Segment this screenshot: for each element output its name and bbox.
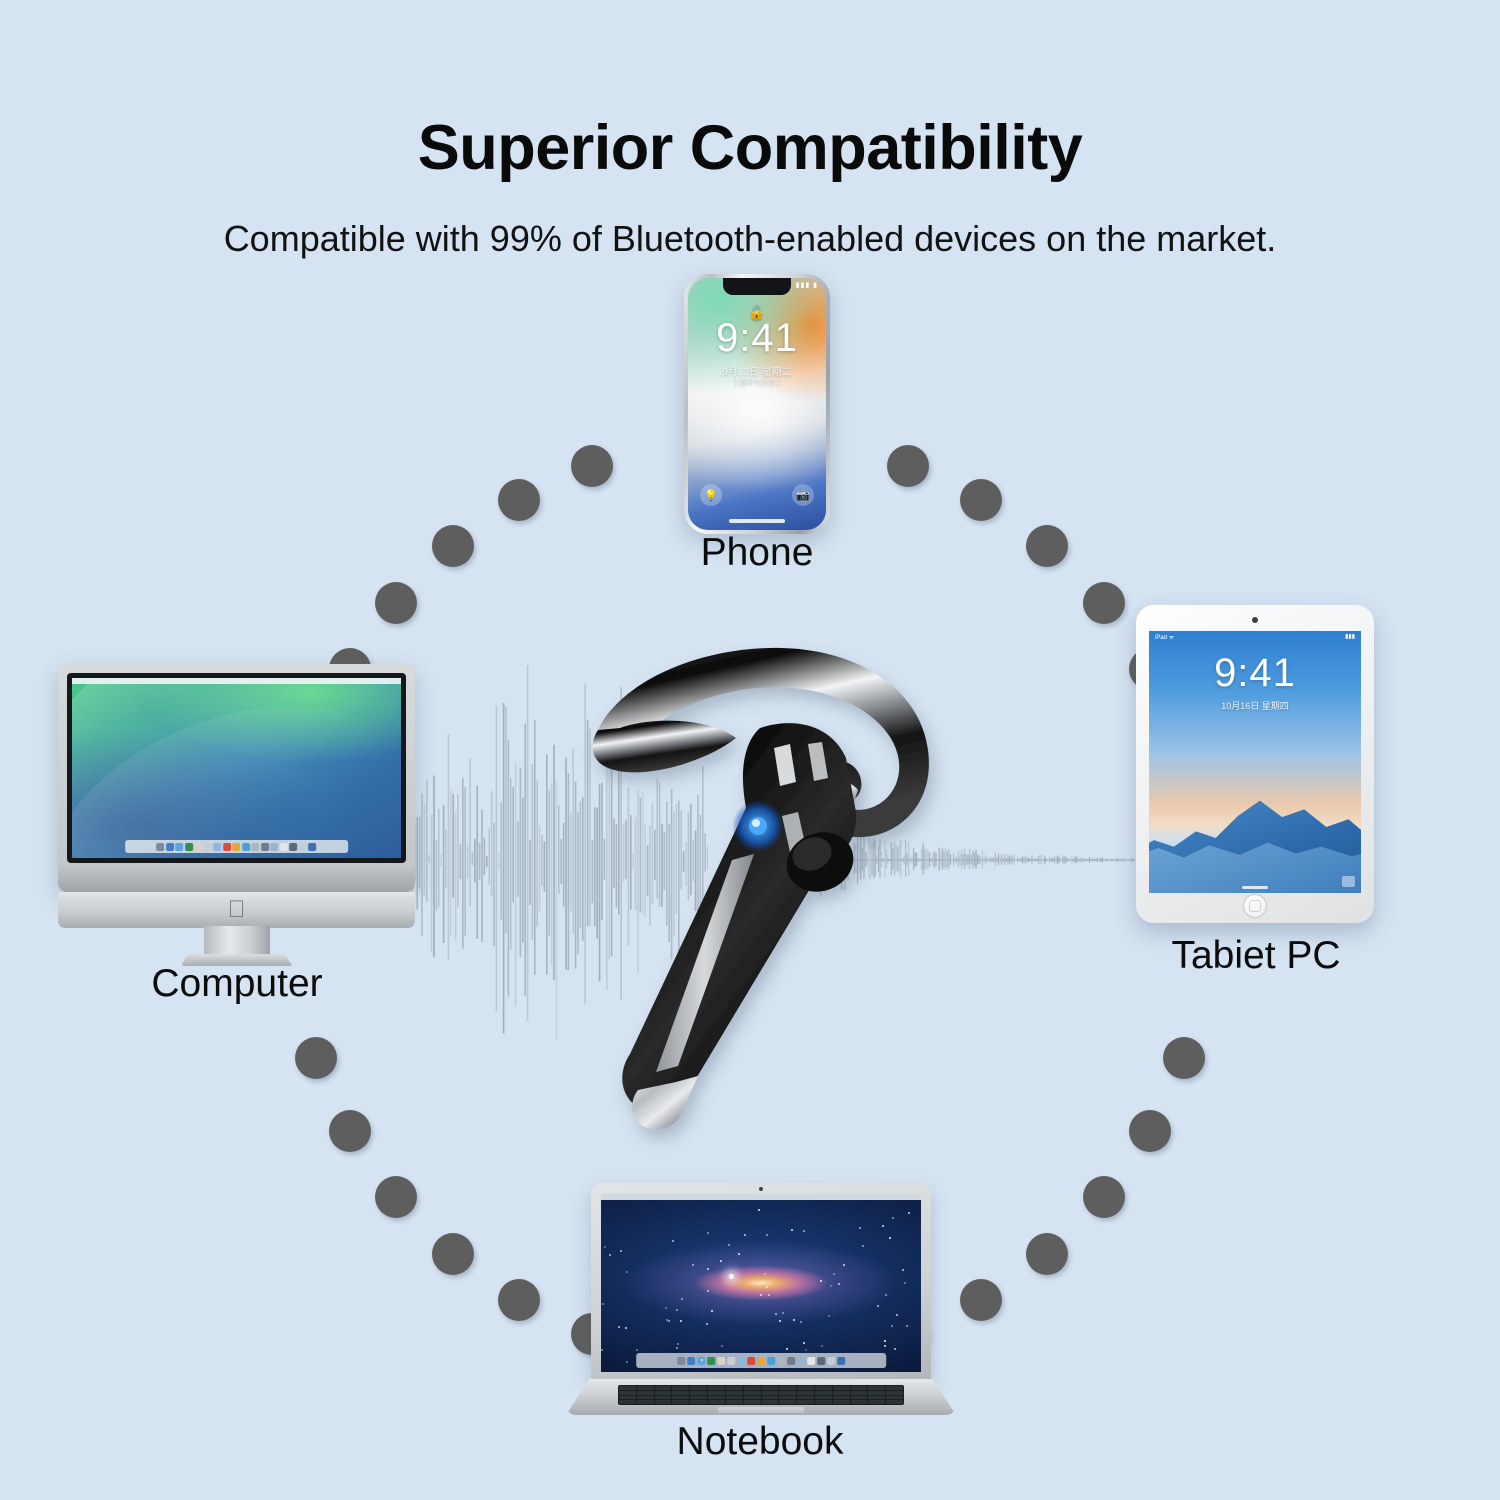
keyboard-key [744,1386,761,1390]
macbook-screen [601,1194,921,1372]
tablet-status-right: ▮▮▮ [1345,633,1355,640]
dock-icon [252,843,260,851]
wallpaper-star [862,1245,864,1247]
wallpaper-star [707,1232,709,1234]
keyboard-key [868,1391,885,1395]
dock-icon [204,843,212,851]
wallpaper-star [782,1312,784,1314]
keyboard-key [868,1386,885,1390]
keyboard-key [637,1396,654,1400]
keyboard-key [797,1400,814,1404]
dock-icon [157,843,165,851]
wallpaper-star [744,1234,746,1236]
imac-bezel [67,673,406,863]
wallpaper-star [779,1320,781,1322]
wallpaper-star [885,1294,887,1296]
imac-stand-neck [204,926,270,958]
connection-dot [432,525,474,567]
wallpaper-star [904,1282,906,1284]
device-tablet: iPad ᯤ ▮▮▮ 9:41 10月16日 星期四 [1136,605,1374,923]
keyboard-key [672,1391,689,1395]
dock-icon [767,1357,775,1365]
macbook-lid [591,1183,931,1381]
keyboard-key [708,1391,725,1395]
keyboard-key [726,1400,743,1404]
keyboard-key [797,1391,814,1395]
wallpaper-star [838,1283,840,1285]
dock-icon [166,843,174,851]
keyboard-key [672,1396,689,1400]
wallpaper-star [768,1294,770,1296]
wallpaper-star [843,1264,845,1266]
imac-body [58,664,415,892]
wallpaper-star [707,1268,709,1270]
connection-dot [960,479,1002,521]
keyboard-key [886,1386,903,1390]
keyboard-key [619,1386,636,1390]
wallpaper-star [636,1349,638,1351]
wallpaper-star [821,1345,823,1347]
wallpaper-star [908,1212,910,1214]
wallpaper-star [677,1343,679,1345]
wallpaper-star [902,1269,904,1271]
device-phone: ▮▮▮ ▮ 🔓 9:41 9月12日 星期二 丁酉年七月廿二 💡 📷 [684,274,830,534]
connection-dot [1026,1233,1068,1275]
wallpaper-star [766,1234,768,1236]
dock-icon [827,1357,835,1365]
keyboard-key [690,1396,707,1400]
dock-icon [242,843,250,851]
tablet-status-left: iPad ᯤ [1155,633,1174,641]
wallpaper-star [833,1273,835,1275]
dock-icon [233,843,241,851]
wallpaper-star [692,1264,694,1266]
keyboard-key [779,1396,796,1400]
wallpaper-star [601,1349,603,1351]
tablet-camera [1252,617,1258,623]
wallpaper-star [877,1305,879,1307]
keyboard-key [797,1386,814,1390]
wallpaper-star [830,1285,832,1287]
tablet-screen: iPad ᯤ ▮▮▮ 9:41 10月16日 星期四 [1149,631,1361,893]
keyboard-key [619,1400,636,1404]
connection-dot [375,1176,417,1218]
dock-icon [261,843,269,851]
wallpaper-star [676,1309,678,1311]
wallpaper-star [760,1294,762,1296]
keyboard-key [655,1396,672,1400]
keyboard-key [762,1391,779,1395]
connection-dot [375,582,417,624]
keyboard-key [726,1396,743,1400]
keyboard-key [815,1386,832,1390]
wallpaper-star [884,1345,886,1347]
phone-notch [723,278,791,295]
wallpaper-star [775,1313,777,1315]
macos-menubar [601,1194,921,1200]
tablet-grabber [1242,886,1268,889]
macbook-camera [759,1187,763,1191]
macos-dock [125,840,349,853]
device-notebook [566,1183,956,1415]
wallpaper-star [766,1286,768,1288]
wallpaper-star [884,1340,886,1342]
macbook-keyboard [618,1385,904,1405]
camera-icon: 📷 [792,484,814,506]
keyboard-key [779,1400,796,1404]
keyboard-key [886,1396,903,1400]
connection-dot [1129,1110,1171,1152]
tablet-date: 10月16日 星期四 [1149,699,1361,712]
tablet-statusbar: iPad ᯤ ▮▮▮ [1149,631,1361,642]
wallpaper-star [701,1359,703,1361]
dock-icon [777,1357,785,1365]
dock-icon [787,1357,795,1365]
dock-icon [290,843,298,851]
keyboard-key [815,1396,832,1400]
device-label-tablet: Tabiet PC [1171,934,1340,978]
wallpaper-star [738,1253,740,1255]
device-computer:  [58,664,415,964]
keyboard-key [708,1386,725,1390]
connection-dot [1163,1037,1205,1079]
keyboard-key [851,1386,868,1390]
keyboard-key [637,1391,654,1395]
phone-screen: ▮▮▮ ▮ 🔓 9:41 9月12日 星期二 丁酉年七月廿二 💡 📷 [688,278,826,530]
dock-icon [176,843,184,851]
dock-icon [280,843,288,851]
keyboard-key [779,1386,796,1390]
macbook-trackpad [718,1407,804,1413]
dock-icon [807,1357,815,1365]
wallpaper-star [896,1314,898,1316]
phone-home-indicator [729,519,785,523]
connection-dot [887,445,929,487]
keyboard-key [833,1386,850,1390]
keyboard-key [779,1391,796,1395]
wallpaper-star [721,1345,723,1347]
keyboard-key [762,1400,779,1404]
keyboard-key [851,1391,868,1395]
flashlight-icon: 💡 [700,484,722,506]
keyboard-key [655,1386,672,1390]
connection-dot [329,1110,371,1152]
keyboard-key [744,1396,761,1400]
dock-icon [757,1357,765,1365]
keyboard-key [726,1386,743,1390]
dock-icon [707,1357,715,1365]
imac-chin:  [58,892,415,928]
wallpaper-star [764,1273,766,1275]
dock-icon [817,1357,825,1365]
keyboard-key [619,1391,636,1395]
keyboard-key [708,1400,725,1404]
dock-icon [677,1357,685,1365]
wallpaper-star [706,1323,708,1325]
wallpaper-star [707,1290,709,1292]
wallpaper-star [786,1348,788,1350]
wallpaper-star [618,1326,620,1328]
keyboard-key [797,1396,814,1400]
page-title: Superior Compatibility [0,114,1500,183]
dock-icon [214,843,222,851]
keyboard-key [637,1400,654,1404]
dock-icon [717,1357,725,1365]
keyboard-key [690,1391,707,1395]
wallpaper-star [602,1303,604,1305]
keyboard-key [815,1400,832,1404]
keyboard-key [851,1396,868,1400]
wallpaper-bright-star [729,1274,734,1279]
connection-dot [960,1279,1002,1321]
dock-icon [737,1357,745,1365]
keyboard-key [744,1391,761,1395]
wallpaper-star [803,1230,805,1232]
connection-dot [1083,1176,1125,1218]
dock-icon [837,1357,845,1365]
tablet-home-button [1243,894,1267,918]
wallpaper-star [728,1244,730,1246]
device-label-computer: Computer [151,962,322,1006]
wallpaper-star [828,1315,830,1317]
phone-date: 9月12日 星期二 [688,363,826,378]
wallpaper-star [889,1237,891,1239]
keyboard-key [690,1400,707,1404]
wallpaper-star [666,1319,668,1321]
connection-dot [571,445,613,487]
keyboard-key [886,1391,903,1395]
dock-icon [271,843,279,851]
dock-icon [747,1357,755,1365]
dock-icon [195,843,203,851]
wallpaper-star [609,1254,611,1256]
connection-dot [498,1279,540,1321]
wallpaper-star [820,1280,822,1282]
tablet-clock: 9:41 [1149,653,1361,693]
keyboard-key [833,1396,850,1400]
wallpaper-star [758,1209,760,1211]
wallpaper-star [626,1361,628,1363]
keyboard-key [708,1396,725,1400]
connection-dot [498,479,540,521]
device-label-notebook: Notebook [677,1420,844,1464]
phone-date-lunar: 丁酉年七月廿二 [688,377,826,387]
keyboard-key [833,1391,850,1395]
dock-icon [309,843,317,851]
wallpaper-star [676,1347,678,1349]
page-subtitle: Compatible with 99% of Bluetooth-enabled… [0,217,1500,260]
wallpaper-star [665,1307,667,1309]
keyboard-key [833,1400,850,1404]
wallpaper-star [791,1229,793,1231]
keyboard-key [637,1386,654,1390]
keyboard-key [744,1400,761,1404]
wallpaper-star [604,1246,606,1248]
device-label-phone: Phone [701,531,814,575]
keyboard-key [762,1396,779,1400]
connection-dot [1083,582,1125,624]
dock-icon [687,1357,695,1365]
keyboard-key [886,1400,903,1404]
imac-screen [72,678,401,858]
wallpaper-star [711,1310,713,1312]
camera-icon [1342,876,1355,887]
keyboard-key [672,1400,689,1404]
wallpaper-star [891,1325,893,1327]
dock-icon [299,843,307,851]
keyboard-key [690,1386,707,1390]
dock-icon [727,1357,735,1365]
wallpaper-star [626,1271,628,1273]
wallpaper-star [720,1260,722,1262]
phone-statusbar: ▮▮▮ ▮ [796,281,818,289]
wallpaper-star [892,1217,894,1219]
dock-icon [797,1357,805,1365]
wallpaper-star [620,1250,622,1252]
wallpaper-star [906,1325,908,1327]
infographic-canvas: Superior Compatibility Compatible with 9… [0,0,1500,1500]
keyboard-key [672,1386,689,1390]
connection-dot [432,1233,474,1275]
wallpaper-star [680,1320,682,1322]
wallpaper-star [793,1319,795,1321]
keyboard-key [726,1391,743,1395]
keyboard-key [655,1400,672,1404]
connection-dot [295,1037,337,1079]
keyboard-key [868,1400,885,1404]
wallpaper-star [800,1321,802,1323]
keyboard-key [655,1391,672,1395]
wallpaper-star [681,1298,683,1300]
dock-icon [185,843,193,851]
keyboard-key [815,1391,832,1395]
apple-icon:  [228,898,246,922]
wallpaper-star [894,1348,896,1350]
phone-clock: 9:41 [688,318,826,358]
keyboard-key [868,1396,885,1400]
macos-dock [636,1353,886,1368]
wallpaper-star [805,1349,807,1351]
wallpaper-star [625,1327,627,1329]
keyboard-key [851,1400,868,1404]
wallpaper-star [859,1227,861,1229]
bluetooth-headset [560,630,1010,1160]
keyboard-key [762,1386,779,1390]
wallpaper-star [882,1225,884,1227]
keyboard-key [619,1396,636,1400]
wallpaper-star [803,1342,805,1344]
connection-dot [1026,525,1068,567]
macos-menubar [72,678,401,684]
dock-icon [223,843,231,851]
wallpaper-star [672,1240,674,1242]
wallpaper-star [668,1320,670,1322]
